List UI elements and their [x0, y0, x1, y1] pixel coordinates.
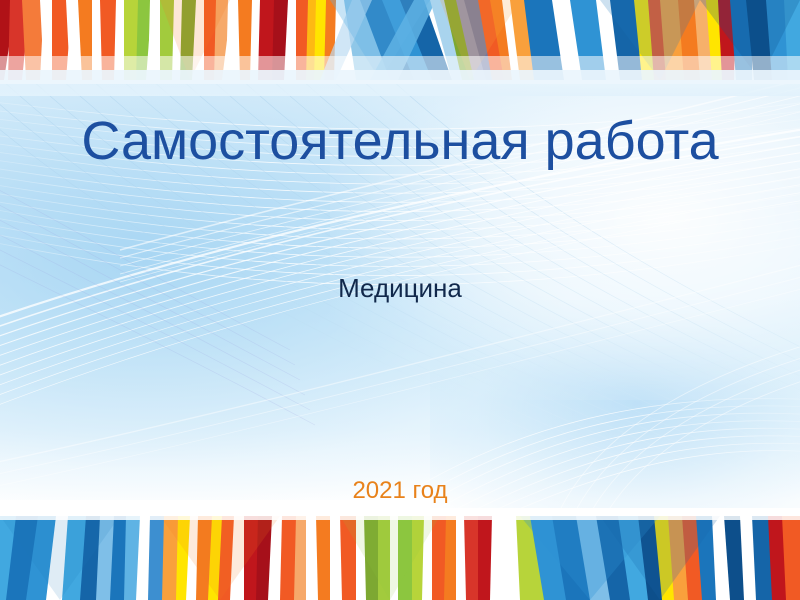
angular-ribbon-pattern-bottom	[0, 508, 800, 600]
page-title: Самостоятельная работа	[0, 113, 800, 170]
presentation-title-slide: Самостоятельная работа Медицина 2021 год	[0, 0, 800, 600]
angular-ribbon-pattern-top	[0, 0, 800, 84]
slide-subtitle: Медицина	[0, 273, 800, 304]
slide-year-label: 2021 год	[0, 477, 800, 505]
